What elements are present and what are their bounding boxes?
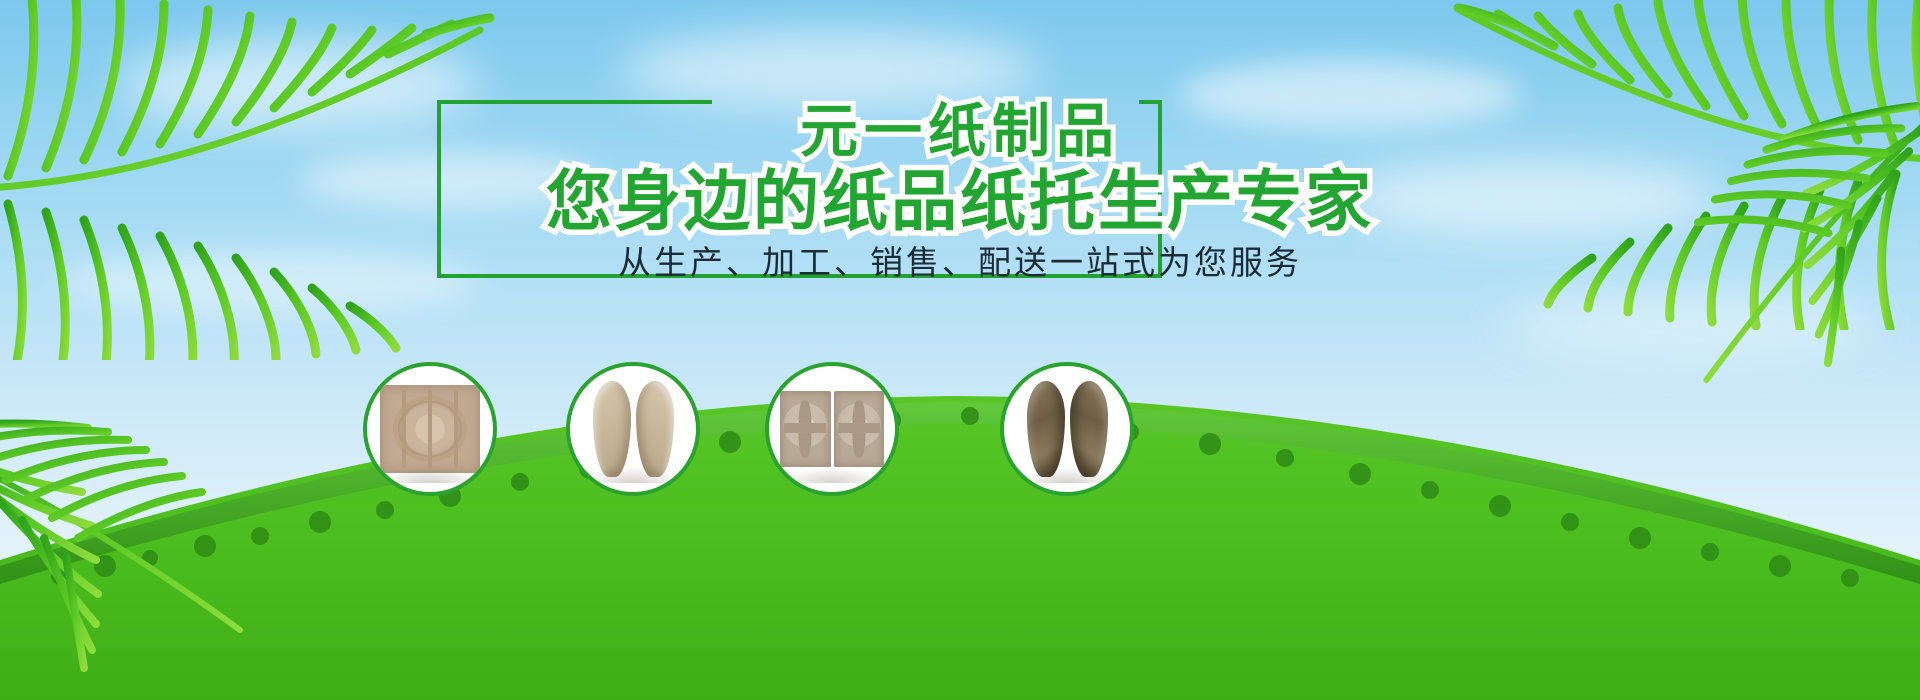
banner-subtitle: 从生产、加工、销售、配送一站式为您服务 <box>0 236 1920 284</box>
promo-banner: 元一纸制品 您身边的纸品纸托生产专家 从生产、加工、销售、配送一站式为您服务 <box>0 0 1920 700</box>
product-circle-square-pulp-tray[interactable] <box>363 362 497 496</box>
product-circle-dark-shoe-tree-pair[interactable] <box>1000 362 1134 496</box>
product-image-double-pulp-tray-pair <box>780 377 884 481</box>
green-hill <box>0 370 1920 700</box>
product-image-dark-shoe-tree-pair <box>1015 377 1119 481</box>
headline-line-2: 您身边的纸品纸托生产专家 <box>0 148 1920 244</box>
product-image-light-shoe-tree-pair <box>581 377 685 481</box>
product-image-square-pulp-tray <box>378 377 482 481</box>
product-circle-light-shoe-tree-pair[interactable] <box>566 362 700 496</box>
product-circle-double-pulp-tray-pair[interactable] <box>765 362 899 496</box>
